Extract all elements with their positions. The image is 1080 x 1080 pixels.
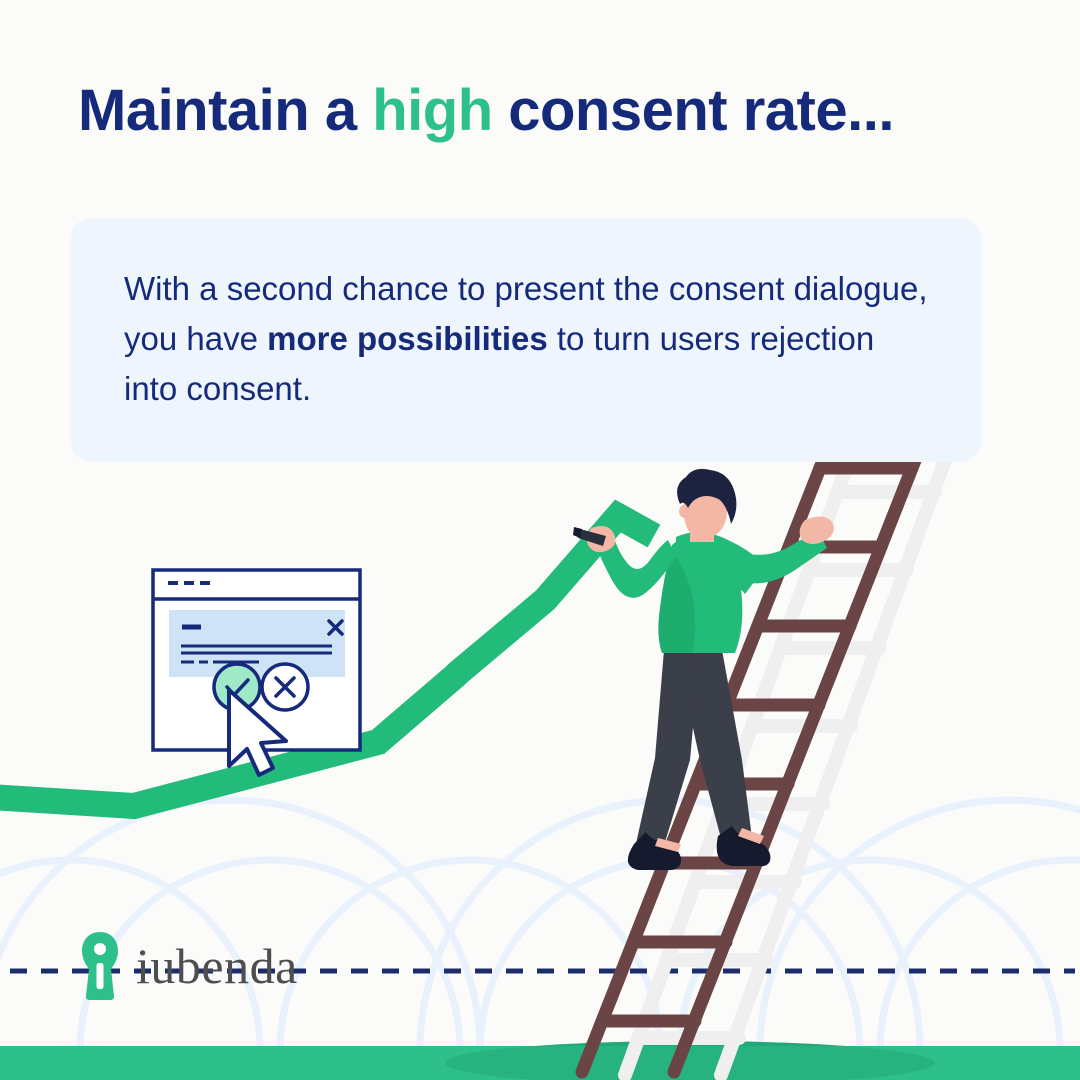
poster-canvas: Maintain a high consent rate... With a s… [0, 0, 1080, 1080]
title-highlight: high [372, 78, 492, 143]
callout-box: With a second chance to present the cons… [70, 218, 982, 462]
brand-wordmark: iubenda [136, 941, 298, 991]
callout-bold-phrase: more possibilities [267, 320, 548, 357]
callout-text: With a second chance to present the cons… [124, 264, 928, 414]
title-part-1: Maintain a [78, 78, 372, 143]
leg-front [635, 650, 700, 852]
page-title: Maintain a high consent rate... [78, 82, 1008, 140]
brand-logo[interactable]: iubenda [80, 930, 298, 1002]
keyhole-icon [80, 930, 120, 1002]
person-climbing [0, 0, 1080, 1080]
hand-right [800, 516, 834, 544]
title-part-2: consent rate... [493, 78, 894, 143]
